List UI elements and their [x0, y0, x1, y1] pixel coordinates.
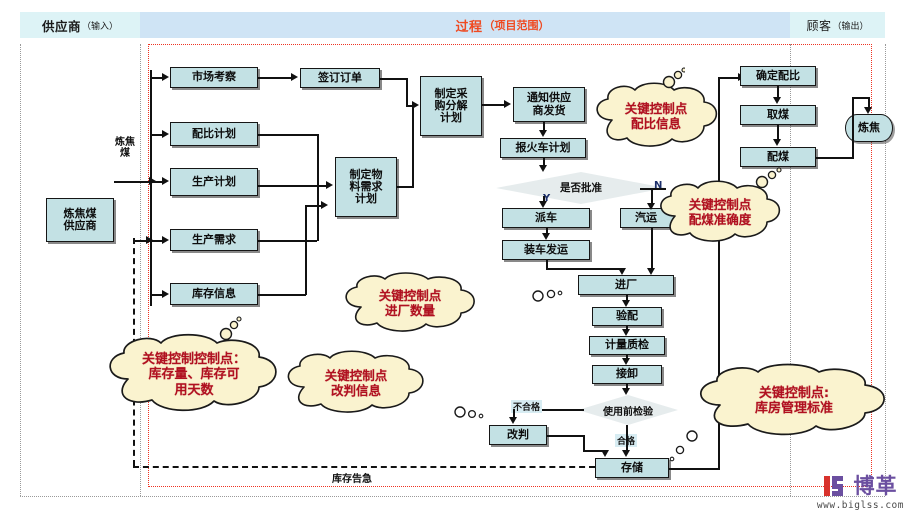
brand-url: www.biglss.com [817, 500, 904, 511]
arrowhead-market-survey [162, 73, 169, 81]
edge-rejudge-h [547, 435, 584, 437]
edge-stock-alert-line [133, 466, 595, 468]
edge-load-h [546, 268, 623, 270]
edge-sign-to-split-v [406, 78, 408, 106]
callout-blend-accuracy[interactable]: 关键控制点 配煤准确度 [650, 182, 790, 244]
callout-warehouse-standard-line1: 关键控制点: [759, 386, 829, 401]
node-notify-supplier-label: 通知供应 商发货 [527, 92, 571, 117]
node-supplier-box-label: 炼焦煤 供应商 [64, 208, 97, 233]
lane-sub-customer: （输出） [833, 19, 869, 32]
edge-proddemand-v [317, 186, 319, 241]
arrowhead-coking [864, 107, 872, 114]
node-inventory-info-label: 库存信息 [192, 288, 236, 300]
callout-ratio-info-line1: 关键控制点 [625, 102, 688, 117]
node-production-demand-label: 生产需求 [192, 234, 236, 246]
lane-divider-mid [140, 44, 141, 496]
arrowhead-approve-decision [539, 165, 547, 172]
arrowhead-storage-top [622, 450, 630, 457]
callout-inventory-days-line1: 关键控制控制点： [142, 352, 246, 367]
node-blend-coal-label: 配煤 [767, 151, 789, 163]
edge-market-to-sign [258, 77, 292, 79]
callout-inbound-qty-tail [530, 286, 570, 306]
arrowhead-re-judge [509, 417, 517, 424]
node-approve-decision-label: 是否批准 [560, 180, 602, 195]
callout-blend-accuracy-line2: 配煤准确度 [689, 213, 752, 228]
node-inventory-info[interactable]: 库存信息 [170, 283, 258, 305]
callout-ratio-info-tail [655, 66, 685, 90]
edge-storage-to-riser [669, 468, 720, 470]
edge-blend-to-coking-h2 [852, 97, 869, 99]
lane-title-supplier: 供应商 [42, 16, 81, 35]
node-metering-qc-label: 计量质检 [605, 339, 649, 351]
node-market-survey-label: 市场考察 [192, 71, 236, 83]
edge-inventory-v [305, 205, 307, 295]
node-dispatch-vehicle-label: 派车 [535, 212, 557, 224]
edge-inventory-h2 [305, 205, 322, 207]
edge-label-stock-alert: 库存告急 [332, 470, 372, 485]
lane-title-process: 过程 [455, 16, 482, 35]
edge-split-to-notify [482, 104, 505, 106]
node-purchase-split-plan[interactable]: 制定采 购分解 计划 [420, 76, 482, 136]
node-storage[interactable]: 存储 [595, 458, 669, 478]
callout-rejudge-info-line2: 改判信息 [331, 384, 381, 399]
callout-ratio-info-line2: 配比信息 [631, 117, 681, 132]
lane-title-customer: 顾客 [806, 17, 831, 34]
node-train-plan-label: 报火车计划 [516, 142, 571, 154]
node-sign-order[interactable]: 签订订单 [300, 68, 380, 88]
node-take-coal-label: 取煤 [767, 109, 789, 121]
edge-blend-to-coking-h [816, 157, 854, 159]
arrowhead-verify-ratio [622, 300, 630, 307]
arrowhead-enter-plant-left [618, 268, 626, 275]
brand-logo: 博革 www.biglss.com [817, 473, 904, 511]
arrowhead-notify-supplier [504, 100, 511, 108]
edge-proddemand-h [258, 240, 317, 242]
arrowhead-inventory-info [162, 290, 169, 298]
node-confirm-ratio[interactable]: 确定配比 [740, 66, 816, 86]
node-material-req-plan[interactable]: 制定物 料需求 计划 [335, 157, 397, 217]
callout-inbound-qty-line1: 关键控制点 [379, 289, 442, 304]
node-notify-supplier[interactable]: 通知供应 商发货 [513, 87, 585, 122]
lane-bottom-guide [20, 496, 885, 497]
lane-divider-left [20, 44, 21, 496]
callout-inventory-days-line3: 用天数 [174, 383, 213, 398]
arrowhead-enter-plant-right [647, 268, 655, 275]
node-load-and-ship-label: 装车发运 [524, 244, 568, 256]
callout-inbound-qty-line2: 进厂数量 [385, 304, 435, 319]
arrowhead-sign-order [291, 73, 298, 81]
node-ratio-plan[interactable]: 配比计划 [170, 122, 258, 146]
arrowhead-production-plan [162, 177, 169, 185]
node-verify-ratio[interactable]: 验配 [592, 307, 662, 326]
arrowhead-ratio-plan [162, 130, 169, 138]
callout-warehouse-standard[interactable]: 关键控制点: 库房管理标准 [686, 366, 902, 436]
node-production-plan-label: 生产计划 [192, 176, 236, 188]
node-market-survey[interactable]: 市场考察 [170, 67, 258, 88]
node-re-judge[interactable]: 改判 [489, 425, 547, 445]
node-confirm-ratio-label: 确定配比 [756, 70, 800, 82]
arrowhead-take-coal [773, 97, 781, 104]
edge-label-fail: 不合格 [511, 400, 542, 413]
edge-sign-to-split-h [380, 78, 408, 80]
arrowhead-storage-left [601, 450, 609, 457]
edge-ratio-to-mrp-h [258, 134, 318, 136]
callout-inventory-days-line2: 库存量、库存可 [148, 367, 239, 382]
arrowhead-dispatch-vehicle [539, 201, 547, 208]
node-train-plan[interactable]: 报火车计划 [500, 138, 586, 158]
callout-blend-accuracy-tail [752, 164, 784, 188]
arrowhead-mrp-lower [321, 201, 328, 209]
callout-rejudge-info[interactable]: 关键控制点 改判信息 [276, 352, 436, 416]
lane-header-process: 过程（项目范围） [140, 12, 865, 38]
callout-warehouse-standard-tail [660, 428, 700, 466]
lane-sub-supplier: （输入） [82, 19, 118, 32]
callout-inventory-days-tail [212, 316, 242, 342]
node-enter-plant-label: 进厂 [615, 279, 637, 291]
lane-header-supplier: 供应商（输入） [20, 12, 140, 38]
edge-mrp-to-split-v [412, 108, 414, 187]
edge-inspect-pass-v [626, 425, 628, 451]
diagram-canvas: 供应商（输入） 过程（项目范围） 顾客（输出） 炼焦煤 供应商 炼焦 煤 市场考… [0, 0, 910, 515]
node-purchase-split-plan-label: 制定采 购分解 计划 [435, 88, 468, 125]
node-verify-ratio-label: 验配 [616, 310, 638, 322]
arrowhead-unload [622, 358, 630, 365]
node-production-plan[interactable]: 生产计划 [170, 168, 258, 196]
lane-header-customer: 顾客（输出） [790, 12, 885, 38]
node-pre-use-inspection-label: 使用前检验 [603, 403, 653, 418]
arrowhead-metering-qc [622, 329, 630, 336]
arrowhead-blend-coal [773, 139, 781, 146]
callout-rejudge-info-tail [452, 402, 492, 422]
node-unload[interactable]: 接卸 [592, 365, 662, 384]
node-unload-label: 接卸 [616, 368, 638, 380]
lane-sub-process: （项目范围） [484, 17, 550, 33]
node-sign-order-label: 签订订单 [318, 72, 362, 84]
callout-ratio-info[interactable]: 关键控制点 配比信息 [586, 84, 726, 150]
arrowhead-pre-use-inspection [622, 388, 630, 395]
edge-rejudge-v [583, 435, 585, 451]
node-production-demand[interactable]: 生产需求 [170, 229, 258, 251]
arrowhead-material-req-plan [326, 181, 333, 189]
callout-rejudge-info-line1: 关键控制点 [325, 369, 388, 384]
edge-ratio-to-mrp-v [317, 134, 319, 186]
node-supplier-box[interactable]: 炼焦煤 供应商 [46, 198, 114, 242]
node-load-and-ship[interactable]: 装车发运 [502, 240, 590, 260]
node-re-judge-label: 改判 [507, 429, 529, 441]
edge-blend-to-coking-v [852, 97, 854, 158]
callout-warehouse-standard-line2: 库房管理标准 [755, 401, 833, 416]
callout-inbound-qty[interactable]: 关键控制点 进厂数量 [334, 274, 486, 334]
arrowhead-stock-alert-in [146, 236, 153, 244]
arrowhead-load-and-ship [542, 233, 550, 240]
node-enter-plant[interactable]: 进厂 [578, 275, 674, 295]
arrowhead-production-demand [162, 236, 169, 244]
arrowhead-train-plan [539, 130, 547, 137]
node-dispatch-vehicle[interactable]: 派车 [502, 208, 590, 228]
callout-inventory-days[interactable]: 关键控制控制点： 库存量、库存可 用天数 [96, 336, 292, 414]
edge-supplier-to-process [114, 181, 150, 183]
node-coking-label: 炼焦 [858, 122, 880, 134]
node-ratio-plan-label: 配比计划 [192, 128, 236, 140]
edge-label-coking-coal: 炼焦 煤 [108, 137, 142, 159]
node-material-req-plan-label: 制定物 料需求 计划 [350, 169, 383, 206]
node-metering-qc[interactable]: 计量质检 [589, 336, 665, 355]
edge-scope-spine [150, 70, 152, 306]
node-storage-label: 存储 [621, 462, 643, 474]
node-take-coal[interactable]: 取煤 [740, 105, 816, 125]
brand-mark-icon [823, 473, 849, 499]
edge-inventory-h [258, 294, 306, 296]
callout-blend-accuracy-line1: 关键控制点 [689, 198, 752, 213]
brand-name: 博革 [853, 476, 897, 497]
edge-take-to-blend [777, 125, 779, 140]
